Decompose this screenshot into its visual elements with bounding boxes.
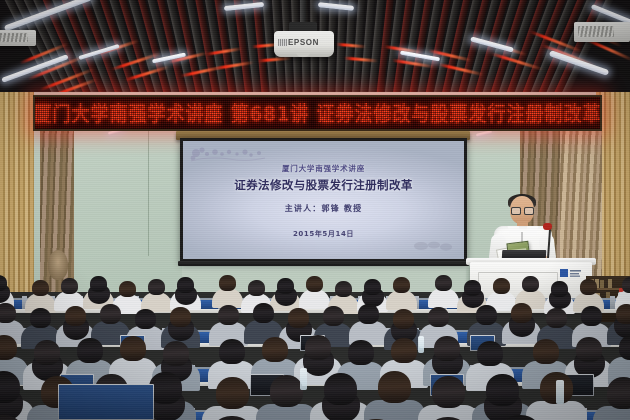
audience-person-head <box>486 374 519 406</box>
audience-water-bottle <box>418 336 424 353</box>
audience-person-head <box>77 338 103 363</box>
audience-person-head <box>65 306 86 326</box>
audience-person-head <box>323 306 344 326</box>
audience-person-head <box>100 304 121 324</box>
audience-person-head <box>30 308 51 328</box>
projection-screen-bottom-bar <box>178 261 469 266</box>
ac-vent-icon <box>578 26 614 37</box>
slide-title: 证券法修改与股票发行注册制改革 <box>183 177 464 193</box>
audience-person-head <box>364 279 381 295</box>
air-conditioner-unit <box>574 22 630 42</box>
audience-person-head <box>616 304 630 324</box>
audience-person-head <box>580 279 597 295</box>
audience-person-head <box>34 340 60 365</box>
projection-screen-surface: 厦门大学南强学术讲座 证券法修改与股票发行注册制改革 主讲人：郭锋 教授 201… <box>183 141 464 259</box>
audience-person-head <box>277 278 294 294</box>
projection-screen-frame: 厦门大学南强学术讲座 证券法修改与股票发行注册制改革 主讲人：郭锋 教授 201… <box>180 138 467 262</box>
audience-person-head <box>170 307 191 327</box>
audience-water-bottle <box>556 380 564 404</box>
audience-person-head <box>391 338 417 363</box>
lecture-hall-photo: EPSON 厦门大学南强学术讲座 第681讲 证券法修改与股票发行注册制改革 <box>0 0 630 420</box>
audience-person-body <box>386 290 417 310</box>
slide-watermark-icon <box>412 239 456 253</box>
audience-person-head <box>581 306 602 326</box>
slide-organization: 厦门大学南强学术讲座 <box>183 163 464 174</box>
eyeglasses-icon <box>511 207 533 213</box>
audience-person-head <box>120 336 146 361</box>
audience-person-head <box>348 340 374 365</box>
audience-person-head <box>476 305 497 325</box>
audience-person-head <box>306 276 323 292</box>
audience-person-head <box>148 279 165 295</box>
audience-person-head <box>546 308 567 328</box>
audience-person-head <box>324 373 357 405</box>
audience-person-head <box>90 276 107 292</box>
ac-vent-icon-left <box>0 33 28 42</box>
audience-person-head <box>288 308 309 328</box>
audience-person-body <box>364 400 425 420</box>
led-banner: 厦门大学南强学术讲座 第681讲 证券法修改与股票发行注册制改革 <box>33 95 602 131</box>
audience-person-head <box>393 277 410 293</box>
audience-person-head <box>358 304 379 324</box>
audience-person-head <box>551 281 568 297</box>
audience-person-head <box>216 377 249 409</box>
audience-person-head <box>435 275 452 291</box>
audience-person-head <box>335 281 352 297</box>
desk-surface <box>0 309 630 313</box>
audience-person-head <box>522 276 539 292</box>
audience-person-head <box>61 278 78 294</box>
audience-person-head <box>262 337 288 362</box>
audience-person-head <box>0 335 17 360</box>
audience-person-head <box>219 339 245 364</box>
audience-person-body <box>299 289 330 309</box>
audience-person-head <box>177 277 194 293</box>
audience-person-head <box>477 341 503 366</box>
audience-person-head <box>393 309 414 329</box>
slide-speaker: 主讲人：郭锋 教授 <box>183 203 464 214</box>
audience-person-head <box>576 337 602 362</box>
audience-person-head <box>253 303 274 323</box>
audience-person-head <box>135 309 156 329</box>
audience-water-bottle <box>300 368 307 390</box>
wall-seam-1 <box>148 126 149 256</box>
slide-date: 2015年5月14日 <box>183 229 464 239</box>
projector-badge-icon <box>278 39 287 46</box>
audience-person-head <box>305 335 331 360</box>
audience-person-body <box>428 288 459 308</box>
audience-person-head <box>432 376 465 408</box>
projector-icon: EPSON <box>274 31 334 57</box>
audience-person-head <box>619 335 630 360</box>
foreground-laptop-screen <box>59 385 153 419</box>
audience-person-head <box>493 278 510 294</box>
audience-person-head <box>607 377 630 409</box>
audience-person-head <box>434 336 460 361</box>
microphone-icon <box>543 223 552 230</box>
audience-person-head <box>163 341 189 366</box>
wood-wall-panel-left <box>0 92 34 292</box>
audience <box>0 272 630 420</box>
audience-person-head <box>32 280 49 296</box>
projector-brand-label: EPSON <box>288 38 319 47</box>
foreground-laptop <box>58 384 154 420</box>
audience-person-head <box>511 303 532 323</box>
air-conditioner-unit-left <box>0 30 36 46</box>
audience-person-head <box>218 305 239 325</box>
audience-person-head <box>464 280 481 296</box>
audience-person-head <box>0 303 16 323</box>
projector-lens-icon <box>296 52 310 57</box>
audience-person-head <box>533 339 559 364</box>
audience-person-head <box>248 280 265 296</box>
audience-person-head <box>428 307 449 327</box>
led-banner-text: 厦门大学南强学术讲座 第681讲 证券法修改与股票发行注册制改革 <box>33 98 601 128</box>
ceiling: EPSON <box>0 0 630 96</box>
audience-person-head <box>119 281 136 297</box>
audience-person-head <box>219 275 236 291</box>
audience-person-head <box>622 277 630 293</box>
audience-person-head <box>270 375 303 407</box>
audience-person-head <box>378 371 411 403</box>
